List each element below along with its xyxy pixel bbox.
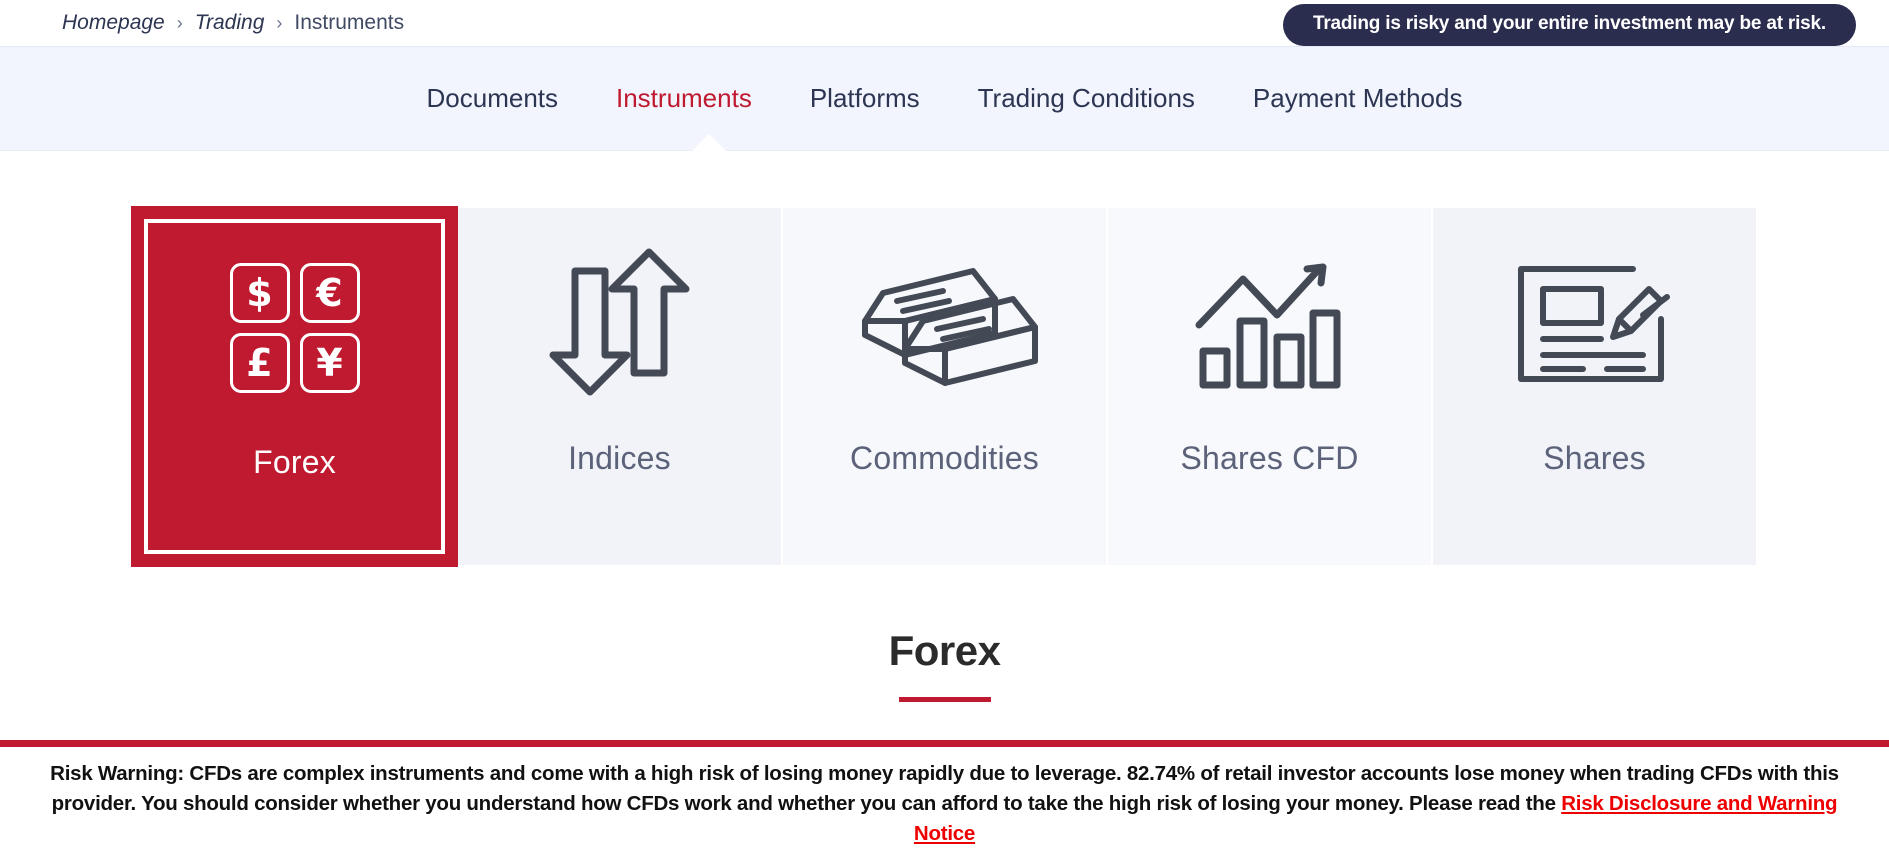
- active-tab-pointer-icon: [692, 134, 726, 151]
- instrument-card-label: Commodities: [850, 440, 1039, 477]
- currency-symbol-pound: £: [230, 333, 290, 393]
- breadcrumb: Homepage › Trading › Instruments: [0, 11, 404, 35]
- instrument-card-label: Shares CFD: [1180, 440, 1358, 477]
- currency-symbol-yen: ¥: [300, 333, 360, 393]
- instrument-card-forex[interactable]: $ € £ ¥ Forex: [133, 208, 456, 565]
- breadcrumb-item-homepage[interactable]: Homepage: [62, 11, 165, 35]
- document-pen-icon: [1433, 208, 1756, 440]
- instrument-card-shares-cfd[interactable]: Shares CFD: [1108, 208, 1431, 565]
- bar-chart-line-icon: [1108, 208, 1431, 440]
- page-title: Forex: [0, 627, 1889, 675]
- risk-disclosure-footer: Risk Warning: CFDs are complex instrumen…: [0, 740, 1889, 859]
- instrument-card-label: Forex: [253, 444, 336, 481]
- nav-item-documents[interactable]: Documents: [427, 83, 559, 114]
- section-heading-block: Forex: [0, 565, 1889, 702]
- risk-disclosure-text: Risk Warning: CFDs are complex instrumen…: [40, 759, 1849, 849]
- nav-item-payment-methods[interactable]: Payment Methods: [1253, 83, 1463, 114]
- instrument-card-label: Shares: [1543, 440, 1646, 477]
- breadcrumb-item-instruments: Instruments: [294, 11, 404, 35]
- nav-item-instruments[interactable]: Instruments: [616, 83, 752, 114]
- instrument-card-commodities[interactable]: Commodities: [783, 208, 1106, 565]
- instrument-card-shares[interactable]: Shares: [1433, 208, 1756, 565]
- instrument-card-indices[interactable]: Indices: [458, 208, 781, 565]
- instrument-card-list: $ € £ ¥ Forex Indices: [0, 151, 1889, 565]
- up-down-arrows-icon: [458, 208, 781, 440]
- breadcrumb-separator-1: ›: [177, 13, 183, 34]
- secondary-nav-bar: Documents Instruments Platforms Trading …: [0, 46, 1889, 151]
- gold-bars-icon: [783, 208, 1106, 440]
- currency-symbol-euro: €: [300, 263, 360, 323]
- nav-item-platforms[interactable]: Platforms: [810, 83, 920, 114]
- currency-grid-icon: $ € £ ¥: [137, 212, 452, 444]
- top-bar: Homepage › Trading › Instruments Trading…: [0, 0, 1889, 46]
- risk-warning-pill: Trading is risky and your entire investm…: [1283, 4, 1856, 46]
- nav-items: Documents Instruments Platforms Trading …: [0, 47, 1889, 150]
- breadcrumb-separator-2: ›: [276, 13, 282, 34]
- nav-item-trading-conditions[interactable]: Trading Conditions: [978, 83, 1195, 114]
- currency-symbol-dollar: $: [230, 263, 290, 323]
- instrument-card-label: Indices: [568, 440, 671, 477]
- title-underline: [899, 697, 991, 702]
- breadcrumb-item-trading[interactable]: Trading: [195, 11, 265, 35]
